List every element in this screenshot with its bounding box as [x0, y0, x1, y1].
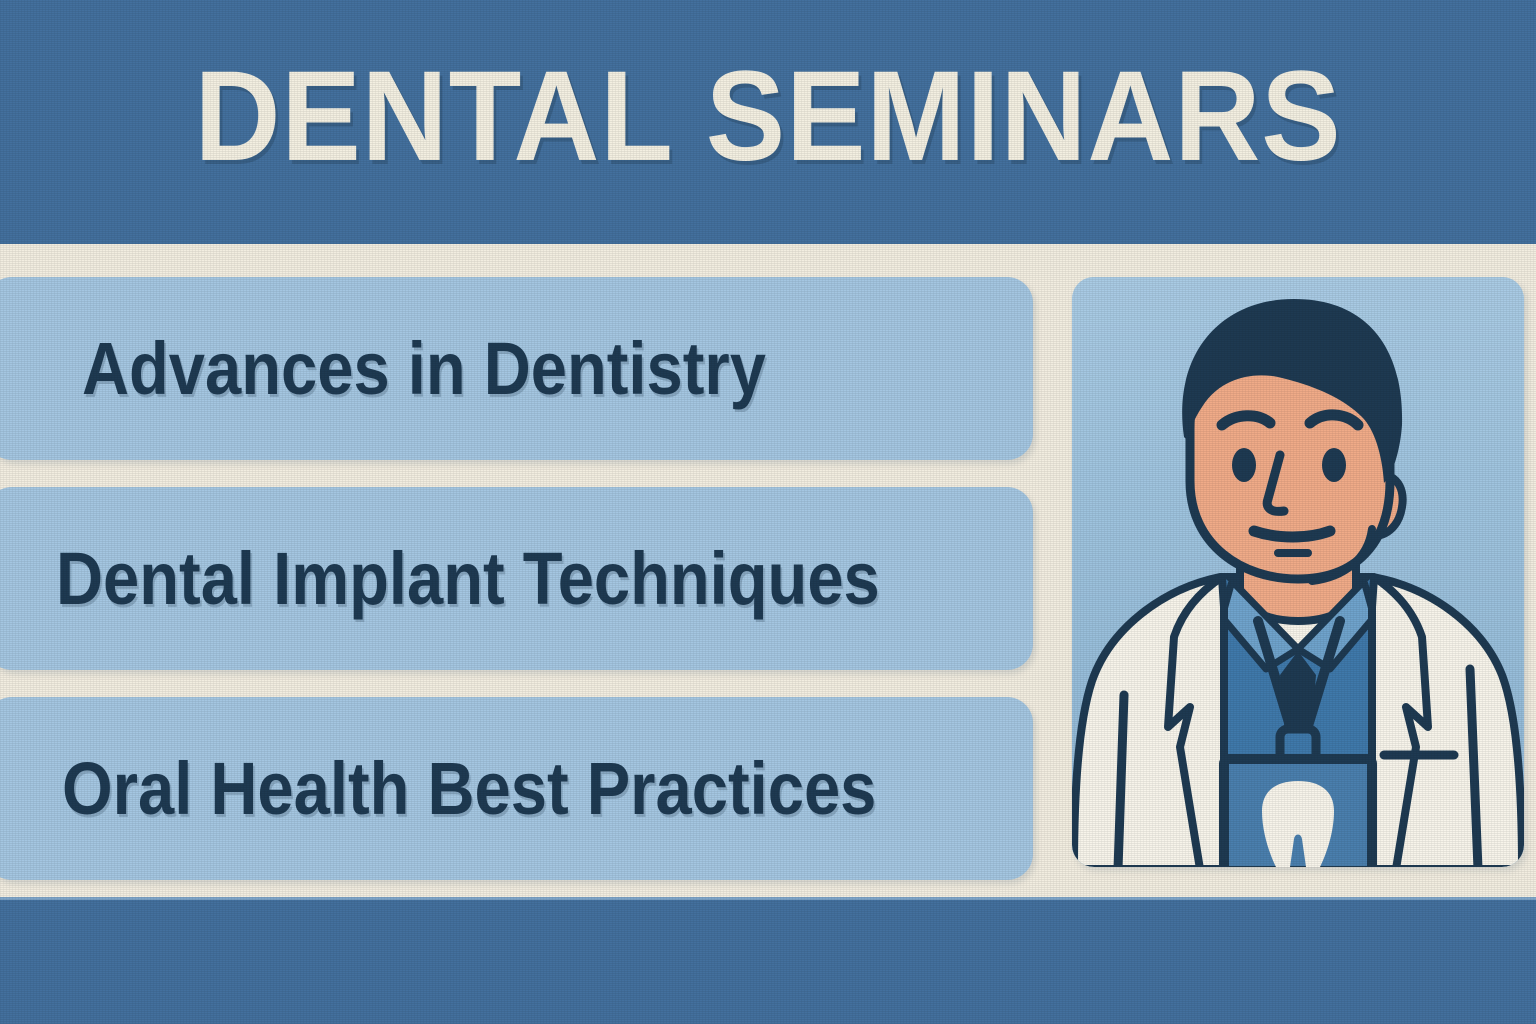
seminar-title-1: Advances in Dentistry: [82, 332, 766, 406]
eye-right: [1322, 448, 1346, 482]
poster-root: DENTAL SEMINARS Advances in Dentistry De…: [0, 0, 1536, 1024]
coat-seam-left: [1118, 695, 1124, 867]
list-item[interactable]: Oral Health Best Practices: [0, 697, 1033, 880]
seminar-title-2: Dental Implant Techniques: [56, 542, 880, 616]
footer-band: [0, 897, 1536, 1024]
eye-left: [1232, 448, 1256, 482]
mouth-line: [1254, 531, 1330, 537]
list-item[interactable]: Advances in Dentistry: [0, 277, 1033, 460]
list-item[interactable]: Dental Implant Techniques: [0, 487, 1033, 670]
page-title: DENTAL SEMINARS: [54, 0, 1482, 244]
seminar-title-3: Oral Health Best Practices: [62, 752, 876, 826]
seminar-list: Advances in Dentistry Dental Implant Tec…: [0, 277, 1033, 881]
dentist-illustration-card: [1072, 277, 1524, 867]
dentist-portrait-icon: [1072, 277, 1524, 867]
